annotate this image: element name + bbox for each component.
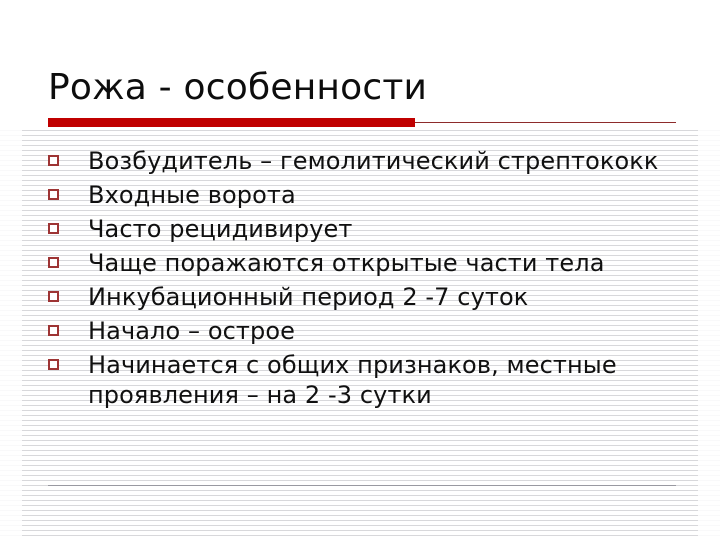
list-item: Начало – острое [48,316,696,346]
title-divider-accent-bar [48,118,415,127]
bottom-divider [48,485,676,486]
list-item: Инкубационный период 2 -7 суток [48,282,696,312]
title-divider [48,118,676,129]
list-item: Чаще поражаются открытые части тела [48,248,696,278]
square-bullet-icon [48,291,59,302]
list-item-label: Инкубационный период 2 -7 суток [88,282,696,312]
slide-title: Рожа - особенности [48,66,688,110]
presentation-slide: Рожа - особенности Возбудитель – гемолит… [0,0,720,540]
list-item: Начинается с общих признаков, местные пр… [48,350,696,410]
square-bullet-icon [48,359,59,370]
square-bullet-icon [48,155,59,166]
list-item-label: Начинается с общих признаков, местные пр… [88,350,696,410]
square-bullet-icon [48,257,59,268]
bullet-list: Возбудитель – гемолитический стрептококк… [48,146,696,414]
square-bullet-icon [48,325,59,336]
list-item: Возбудитель – гемолитический стрептококк [48,146,696,176]
list-item-label: Чаще поражаются открытые части тела [88,248,696,278]
list-item: Входные ворота [48,180,696,210]
list-item-label: Возбудитель – гемолитический стрептококк [88,146,696,176]
list-item-label: Начало – острое [88,316,696,346]
list-item: Часто рецидивирует [48,214,696,244]
square-bullet-icon [48,189,59,200]
list-item-label: Входные ворота [88,180,696,210]
square-bullet-icon [48,223,59,234]
list-item-label: Часто рецидивирует [88,214,696,244]
